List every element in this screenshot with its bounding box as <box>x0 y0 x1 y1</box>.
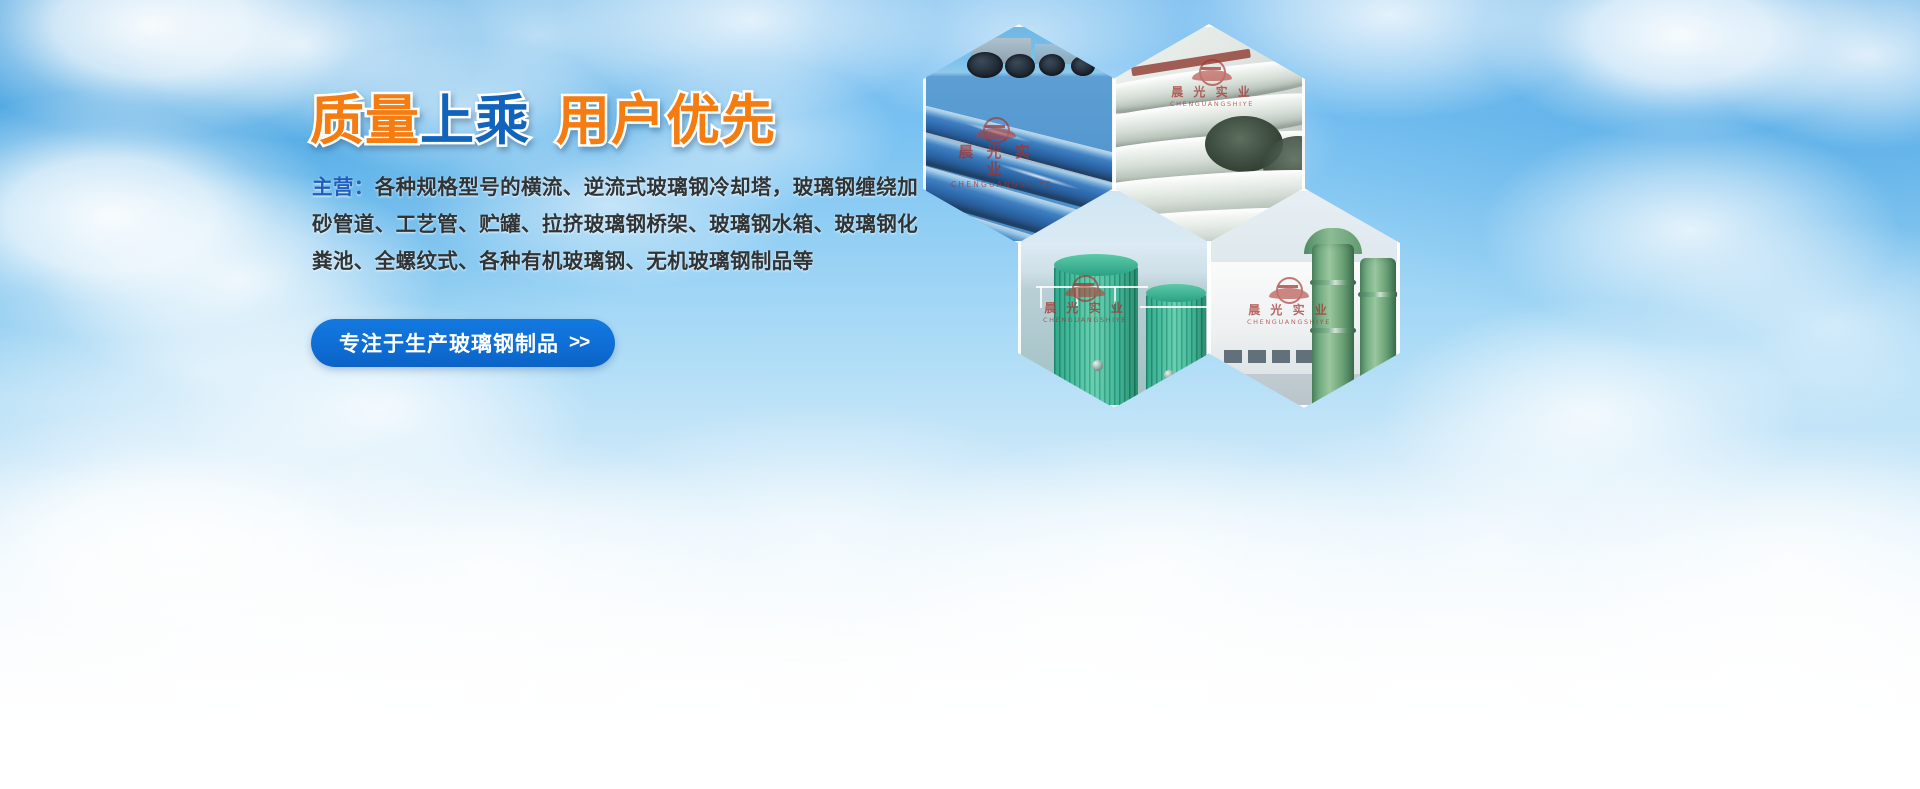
description-line-1: 主营：各种规格型号的横流、逆流式玻璃钢冷却塔，玻璃钢缠绕加 <box>312 169 930 206</box>
banner-stage: 质量上乘用户优先 主营：各种规格型号的横流、逆流式玻璃钢冷却塔，玻璃钢缠绕加 砂… <box>0 0 1920 789</box>
headline-part-2: 上乘 <box>420 89 530 152</box>
description-line-1-text: 各种规格型号的横流、逆流式玻璃钢冷却塔，玻璃钢缠绕加 <box>375 175 918 199</box>
headline-part-3: 用户优先 <box>556 89 776 152</box>
headline-part-1: 质量 <box>310 89 420 152</box>
description-line-3: 粪池、全螺纹式、各种有机玻璃钢、无机玻璃钢制品等 <box>312 243 930 280</box>
description-line-2: 砂管道、工艺管、贮罐、拉挤玻璃钢桥架、玻璃钢水箱、玻璃钢化 <box>312 206 930 243</box>
copy-block: 质量上乘用户优先 主营：各种规格型号的横流、逆流式玻璃钢冷却塔，玻璃钢缠绕加 砂… <box>310 92 930 280</box>
bottom-haze <box>0 459 1920 789</box>
hexagon-gallery: 晨 光 实 业 CHENGUANGSHIYE <box>915 8 1435 408</box>
headline: 质量上乘用户优先 <box>310 92 930 149</box>
cta-button[interactable]: 专注于生产玻璃钢制品 >> <box>311 319 615 367</box>
chevron-right-icon: >> <box>569 332 589 354</box>
description-text: 主营：各种规格型号的横流、逆流式玻璃钢冷却塔，玻璃钢缠绕加 砂管道、工艺管、贮罐… <box>312 169 930 280</box>
description-lead-label: 主营： <box>312 175 375 199</box>
cta-button-label: 专注于生产玻璃钢制品 <box>339 328 559 358</box>
